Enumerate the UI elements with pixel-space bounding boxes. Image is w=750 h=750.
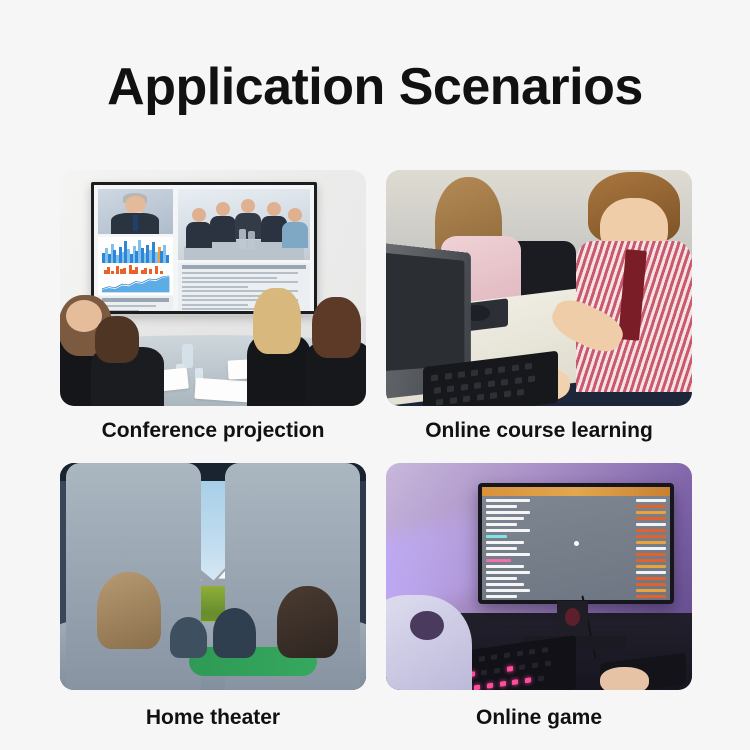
crosshair-icon [574, 541, 579, 546]
scenario-card-online-course-learning[interactable]: Online course learning [386, 170, 692, 443]
scenario-caption-conference-projection: Conference projection [60, 419, 366, 443]
scenario-grid: Conference projection [60, 170, 692, 725]
game-chat-panel [486, 499, 535, 596]
application-scenarios-page: Application Scenarios [0, 0, 750, 750]
scenario-caption-online-game: Online game [386, 706, 692, 730]
page-title: Application Scenarios [0, 58, 750, 118]
scenario-image-online-game [386, 463, 692, 690]
viewer-adult-right [277, 586, 338, 659]
viewer-child-left [170, 617, 207, 658]
scenario-caption-online-course-learning: Online course learning [386, 419, 692, 443]
viewer-adult-left [97, 572, 161, 649]
gaming-monitor-icon [478, 483, 674, 603]
gamer-figure [386, 595, 472, 690]
scenario-image-online-course-learning [386, 170, 692, 406]
scenario-caption-home-theater: Home theater [60, 706, 366, 730]
scenario-card-home-theater[interactable]: Home theater [60, 463, 366, 730]
scenario-image-conference-projection [60, 170, 366, 406]
viewer-child-right [213, 608, 256, 658]
scenario-card-conference-projection[interactable]: Conference projection [60, 170, 366, 443]
scenario-card-online-game[interactable]: Online game [386, 463, 692, 730]
game-player-list [636, 499, 666, 593]
scenario-image-home-theater [60, 463, 366, 690]
